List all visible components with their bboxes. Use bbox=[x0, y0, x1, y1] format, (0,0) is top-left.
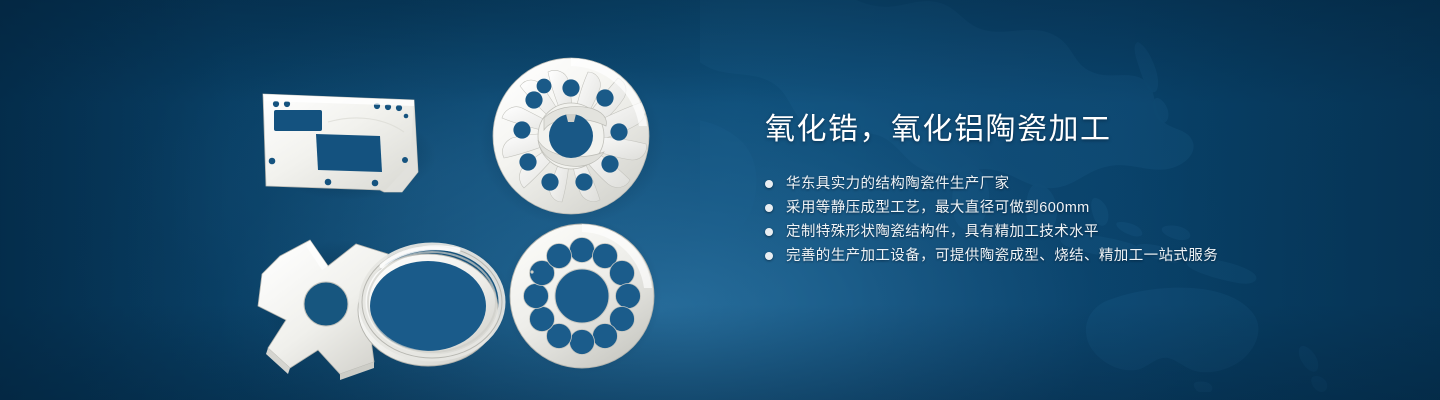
bullet-dot-icon bbox=[765, 228, 773, 236]
bullet-dot-icon bbox=[765, 204, 773, 212]
bullet-dot-icon bbox=[765, 180, 773, 188]
banner-copy: 氧化锆，氧化铝陶瓷加工 华东具实力的结构陶瓷件生产厂家 采用等静压成型工艺，最大… bbox=[765, 110, 1365, 268]
list-item: 华东具实力的结构陶瓷件生产厂家 bbox=[765, 172, 1365, 196]
bullet-text: 定制特殊形状陶瓷结构件，具有精加工技术水平 bbox=[786, 220, 1099, 244]
feature-bullet-list: 华东具实力的结构陶瓷件生产厂家 采用等静压成型工艺，最大直径可做到600mm 定… bbox=[765, 172, 1365, 268]
bullet-dot-icon bbox=[765, 252, 773, 260]
list-item: 采用等静压成型工艺，最大直径可做到600mm bbox=[765, 196, 1365, 220]
ceramic-ring bbox=[358, 246, 502, 366]
bullet-text: 完善的生产加工设备，可提供陶瓷成型、烧结、精加工一站式服务 bbox=[786, 244, 1218, 268]
product-hero-banner: 氧化锆，氧化铝陶瓷加工 华东具实力的结构陶瓷件生产厂家 采用等静压成型工艺，最大… bbox=[0, 0, 1440, 400]
list-item: 完善的生产加工设备，可提供陶瓷成型、烧结、精加工一站式服务 bbox=[765, 244, 1365, 268]
ceramic-impeller-disc bbox=[493, 58, 649, 214]
list-item: 定制特殊形状陶瓷结构件，具有精加工技术水平 bbox=[765, 220, 1365, 244]
ceramic-machined-plate bbox=[263, 94, 418, 192]
page-title: 氧化锆，氧化铝陶瓷加工 bbox=[765, 110, 1365, 150]
bullet-text: 华东具实力的结构陶瓷件生产厂家 bbox=[786, 172, 1010, 196]
ceramic-perforated-flange bbox=[510, 224, 654, 368]
bullet-text: 采用等静压成型工艺，最大直径可做到600mm bbox=[786, 196, 1090, 220]
product-photo-collage bbox=[232, 44, 684, 384]
